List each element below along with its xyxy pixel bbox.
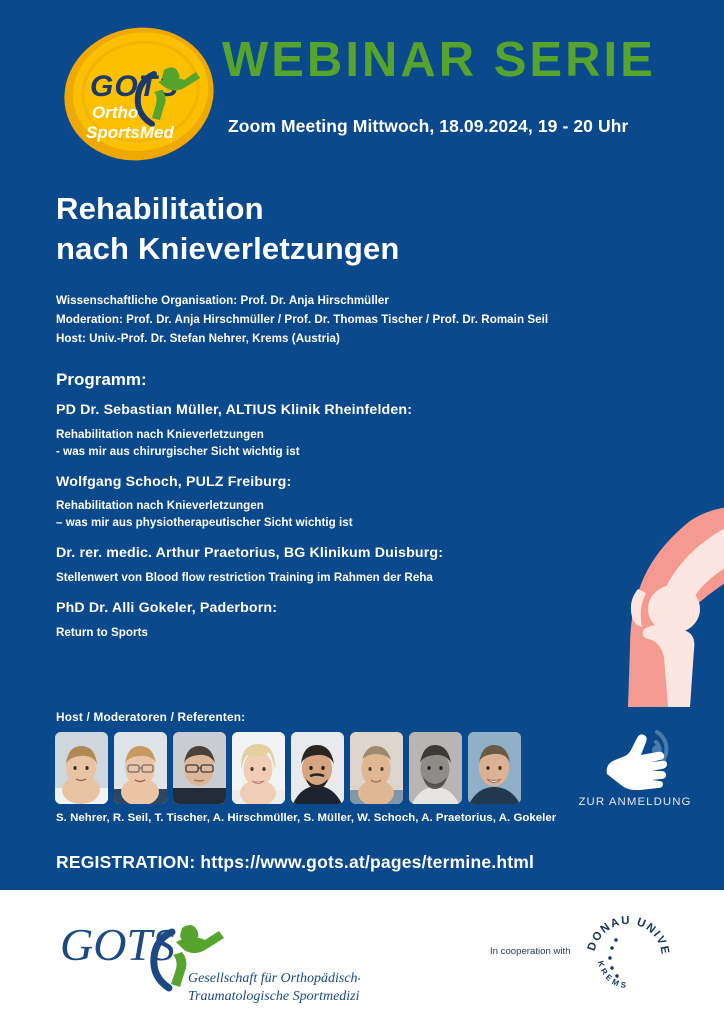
program-topic-line: Return to Sports — [56, 624, 556, 641]
photo-a-hirschmueller — [232, 732, 285, 804]
svg-text:KREMS: KREMS — [596, 960, 629, 990]
presenters-label: Host / Moderatoren / Referenten: — [56, 710, 245, 724]
poster-footer: GOTS Gesellschaft für Orthopädisch- Trau… — [0, 890, 724, 1024]
program-list: PD Dr. Sebastian Müller, ALTIUS Klinik R… — [56, 400, 556, 653]
program-topic-line: – was mir aus physiotherapeutischer Sich… — [56, 514, 556, 531]
knee-anatomy-illustration — [594, 497, 724, 729]
gots-coin-logo: GOTS Ortho SportsMed — [62, 26, 216, 162]
page-title-line-1: Rehabilitation — [56, 189, 400, 229]
gots-footer-sub-2: Traumatologische Sportmedizin — [188, 989, 360, 1004]
poster-blue-panel: GOTS Ortho SportsMed WEBINAR SERIE Zoom … — [0, 0, 724, 890]
program-topic-line: Stellenwert von Blood flow restriction T… — [56, 569, 556, 586]
webinar-title: WEBINAR SERIE — [222, 36, 656, 85]
zur-anmeldung-label: ZUR ANMELDUNG — [565, 796, 705, 808]
page-title-line-2: nach Knieverletzungen — [56, 229, 400, 269]
photo-r-seil — [114, 732, 167, 804]
program-label: Programm: — [56, 370, 147, 390]
program-topic-line: - was mir aus chirurgischer Sicht wichti… — [56, 443, 556, 460]
credits-organisation: Wissenschaftliche Organisation: Prof. Dr… — [56, 292, 548, 311]
program-speaker: PD Dr. Sebastian Müller, ALTIUS Klinik R… — [56, 400, 556, 421]
cooperation-label: In cooperation with — [490, 946, 571, 957]
zur-anmeldung-button[interactable]: ZUR ANMELDUNG — [565, 718, 705, 818]
presenters-caption: S. Nehrer, R. Seil, T. Tischer, A. Hirsc… — [56, 812, 556, 824]
svg-text:Ortho: Ortho — [92, 103, 138, 122]
program-item: PhD Dr. Alli Gokeler, Paderborn: Return … — [56, 598, 556, 641]
page-title: Rehabilitation nach Knieverletzungen — [56, 189, 400, 270]
credits-moderation: Moderation: Prof. Dr. Anja Hirschmüller … — [56, 311, 548, 330]
photo-s-nehrer — [55, 732, 108, 804]
photo-t-tischer — [173, 732, 226, 804]
program-topic-line: Rehabilitation nach Knieverletzungen — [56, 497, 556, 514]
gots-footer-sub-1: Gesellschaft für Orthopädisch- — [188, 971, 360, 986]
svg-text:DONAU UNIVERSITÄT: DONAU UNIVERSITÄT — [580, 910, 671, 956]
photo-w-schoch — [350, 732, 403, 804]
program-speaker: Dr. rer. medic. Arthur Praetorius, BG Kl… — [56, 543, 556, 564]
credits-host: Host: Univ.-Prof. Dr. Stefan Nehrer, Kre… — [56, 330, 548, 349]
photo-a-praetorius — [409, 732, 462, 804]
photo-a-gokeler — [468, 732, 521, 804]
gots-footer-logo: GOTS Gesellschaft für Orthopädisch- Trau… — [60, 912, 360, 1004]
program-speaker: PhD Dr. Alli Gokeler, Paderborn: — [56, 598, 556, 619]
program-item: Wolfgang Schoch, PULZ Freiburg: Rehabili… — [56, 472, 556, 532]
photo-s-mueller — [291, 732, 344, 804]
tap-hand-icon — [601, 718, 685, 790]
presenter-photo-row — [55, 732, 521, 804]
program-topic-line: Rehabilitation nach Knieverletzungen — [56, 426, 556, 443]
program-item: Dr. rer. medic. Arthur Praetorius, BG Kl… — [56, 543, 556, 586]
program-speaker: Wolfgang Schoch, PULZ Freiburg: — [56, 472, 556, 493]
webinar-poster: GOTS Ortho SportsMed WEBINAR SERIE Zoom … — [0, 0, 724, 1024]
program-item: PD Dr. Sebastian Müller, ALTIUS Klinik R… — [56, 400, 556, 460]
donau-universitaet-krems-logo: DONAU UNIVERSITÄT KREMS — [580, 910, 676, 1006]
svg-text:SportsMed: SportsMed — [86, 123, 174, 142]
meeting-datetime: Zoom Meeting Mittwoch, 18.09.2024, 19 - … — [228, 116, 628, 137]
credits-block: Wissenschaftliche Organisation: Prof. Dr… — [56, 292, 548, 348]
registration-link[interactable]: REGISTRATION: https://www.gots.at/pages/… — [56, 852, 534, 873]
